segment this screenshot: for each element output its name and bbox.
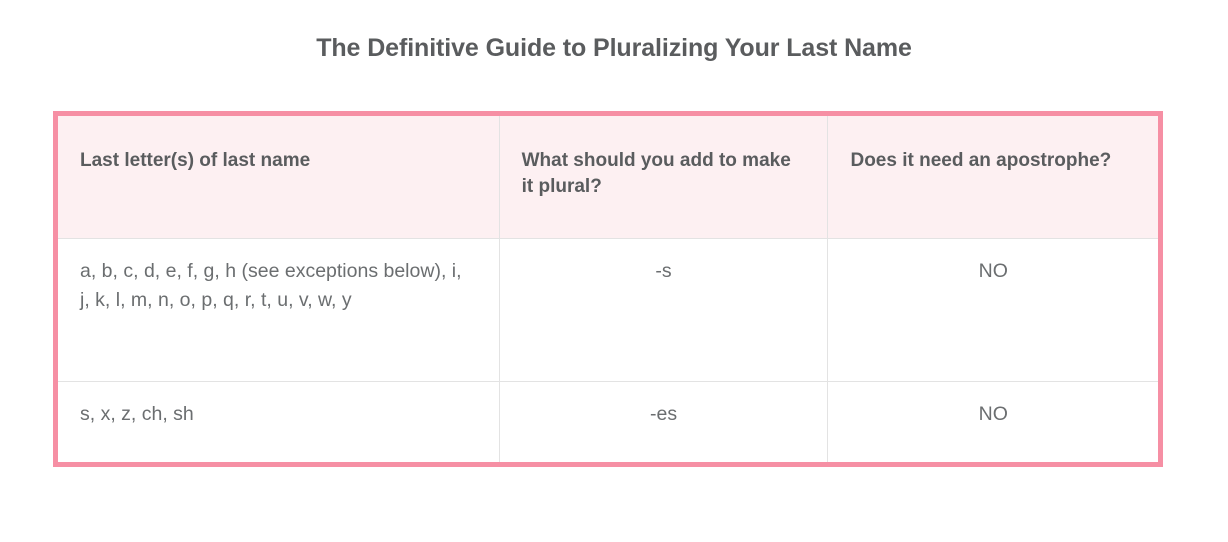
cell-needs-apostrophe: NO [828, 382, 1158, 463]
table-row: a, b, c, d, e, f, g, h (see exceptions b… [58, 239, 1158, 382]
table-body: a, b, c, d, e, f, g, h (see exceptions b… [58, 239, 1158, 463]
column-header-last-letters: Last letter(s) of last name [58, 116, 499, 239]
column-header-needs-apostrophe: Does it need an apostrophe? [828, 116, 1158, 239]
pluralization-guide-table: Last letter(s) of last name What should … [58, 116, 1158, 462]
table-header: Last letter(s) of last name What should … [58, 116, 1158, 239]
page-title: The Definitive Guide to Pluralizing Your… [0, 0, 1228, 63]
cell-needs-apostrophe: NO [828, 239, 1158, 382]
column-header-what-to-add: What should you add to make it plural? [499, 116, 828, 239]
cell-what-to-add: -s [499, 239, 828, 382]
table-row: s, x, z, ch, sh -es NO [58, 382, 1158, 463]
table-header-row: Last letter(s) of last name What should … [58, 116, 1158, 239]
cell-last-letters: s, x, z, ch, sh [58, 382, 499, 463]
cell-what-to-add: -es [499, 382, 828, 463]
pluralization-guide-table-container: Last letter(s) of last name What should … [53, 111, 1163, 467]
page-root: The Definitive Guide to Pluralizing Your… [0, 0, 1228, 542]
cell-last-letters: a, b, c, d, e, f, g, h (see exceptions b… [58, 239, 499, 382]
